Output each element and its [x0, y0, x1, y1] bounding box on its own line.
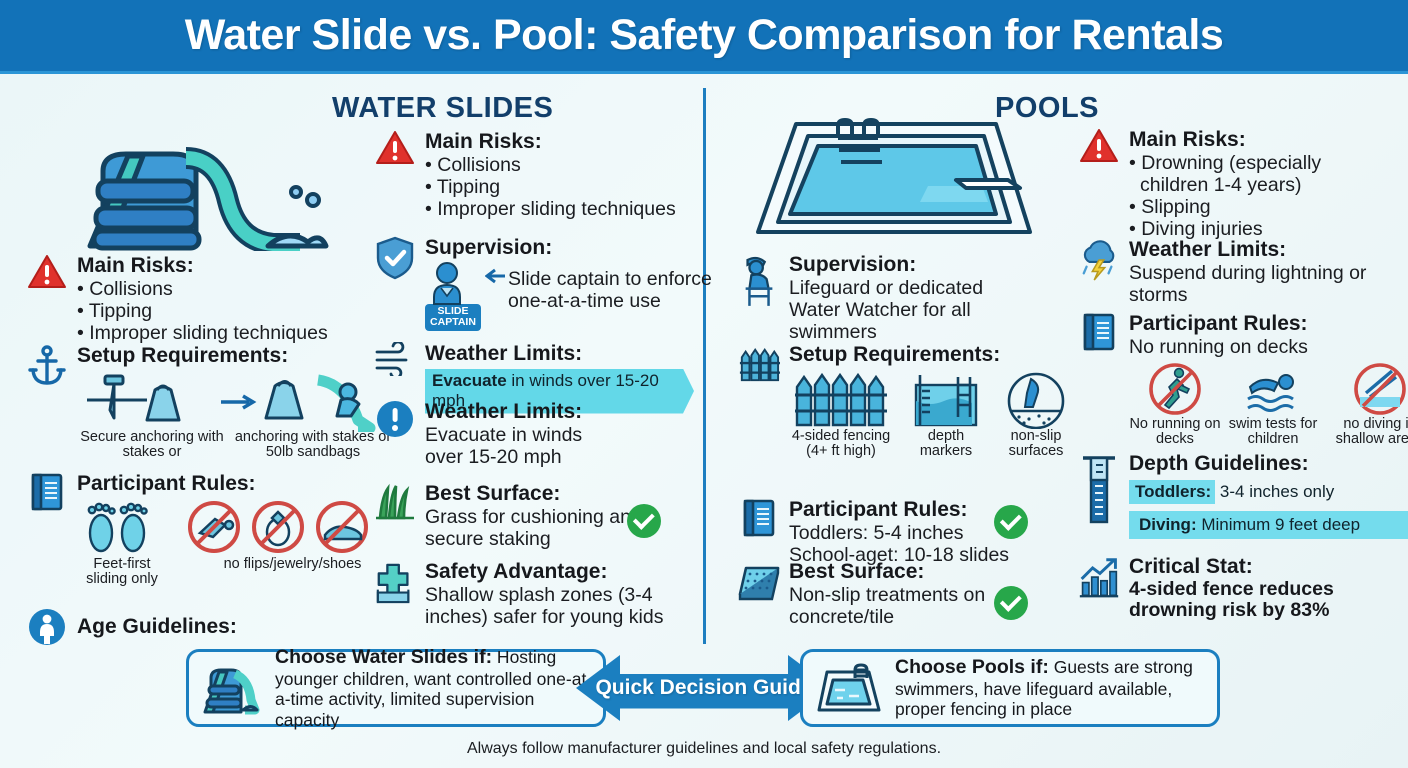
no-shoes-icon: [313, 499, 371, 555]
heading: Participant Rules:: [77, 472, 400, 496]
footer-note: Always follow manufacturer guidelines an…: [0, 740, 1408, 758]
shield-check-icon: [374, 236, 416, 331]
no-diving-icon: [1352, 363, 1408, 417]
water-slide-illustration: [68, 96, 338, 251]
heading: Main Risks:: [425, 130, 684, 154]
heading: Best Surface:: [425, 482, 674, 506]
supervision-body: Slide captain to enforce one-at-a-time u…: [508, 268, 733, 312]
page-title: Water Slide vs. Pool: Safety Comparison …: [185, 11, 1224, 60]
mini-pool-icon: [813, 660, 885, 716]
heading: Setup Requirements:: [77, 344, 393, 368]
pools-mid-setup: Setup Requirements: 4-sided fencing (4+ …: [738, 343, 1038, 460]
toddlers-rest: 3-4 inches only: [1215, 482, 1334, 501]
surface-body: Grass for cushioning and secure staking: [425, 506, 645, 550]
heading: Weather Limits:: [425, 342, 694, 366]
pools-mid-supervision: Supervision: Lifeguard or dedicated Wate…: [738, 253, 1038, 343]
book-icon: [26, 472, 68, 588]
heading: Depth Guidelines:: [1129, 452, 1408, 476]
quick-decision-guide-arrow: Quick Decision Guide: [576, 655, 832, 721]
toddlers-bold: Toddlers:: [1135, 482, 1211, 501]
cap-no-running: No running on decks: [1129, 417, 1221, 449]
pools-right-main-risks: Main Risks: Drowning (especially childre…: [1078, 128, 1398, 240]
badge-line-2: CAPTAIN: [428, 317, 478, 329]
growth-chart-icon: [1078, 555, 1120, 622]
decision-left-bold: Choose Water Slides if:: [275, 646, 492, 668]
slides-left-age-guidelines: Age Guidelines:: [26, 608, 356, 646]
decision-right-text: Choose Pools if: Guests are strong swimm…: [895, 656, 1207, 720]
left-arrow-icon: [485, 268, 505, 284]
fence-icon: [738, 343, 780, 460]
pools-mid-best-surface: Best Surface: Non-slip treatments on con…: [738, 560, 1038, 628]
anchor-icon: [26, 344, 68, 461]
decision-left-text: Choose Water Slides if: Hosting younger …: [275, 646, 593, 730]
surface-body: Non-slip treatments on concrete/tile: [789, 584, 1004, 628]
stat-body: 4-sided fence reduces drowning risk by 8…: [1129, 579, 1379, 623]
page-header: Water Slide vs. Pool: Safety Comparison …: [0, 0, 1408, 74]
slides-mid-main-risks: Main Risks: Collisions Tipping Improper …: [374, 130, 684, 220]
feet-first-caption: Feet-first sliding only: [77, 557, 167, 589]
fence-large-icon: [793, 371, 889, 429]
list-item: Collisions: [425, 154, 684, 176]
pools-right-critical-stat: Critical Stat: 4-sided fence reduces dro…: [1078, 555, 1403, 622]
setup-caption-left: Secure anchoring with stakes or: [77, 430, 227, 462]
depth-toddlers-highlight: Toddlers:: [1129, 480, 1215, 504]
slide-captain-figure: SLIDE CAPTAIN: [425, 262, 481, 332]
lifeguard-chair-icon: [738, 253, 780, 343]
diving-rest: Minimum 9 feet deep: [1197, 515, 1360, 534]
heading: Supervision:: [789, 253, 1038, 277]
depth-markers-icon: [910, 371, 982, 429]
risk-list: Collisions Tipping Improper sliding tech…: [77, 278, 356, 345]
slides-left-main-risks: Main Risks: Collisions Tipping Improper …: [26, 254, 356, 344]
heading: Main Risks:: [1129, 128, 1398, 152]
pools-right-weather: Weather Limits: Suspend during lightning…: [1078, 238, 1398, 306]
slides-mid-safety-advantage: Safety Advantage: Shallow splash zones (…: [374, 560, 684, 628]
slides-mid-supervision: Supervision: SLIDE CAPTAIN Slide captain…: [374, 236, 689, 331]
heading: Critical Stat:: [1129, 555, 1403, 579]
depth-diving-highlight: Diving: Minimum 9 feet deep: [1129, 511, 1408, 539]
book-icon: [1078, 312, 1120, 448]
heading: Best Surface:: [789, 560, 1038, 584]
list-item: Collisions: [77, 278, 356, 300]
weather-body: Suspend during lightning or storms: [1129, 262, 1379, 306]
heading: Weather Limits:: [1129, 238, 1398, 262]
heading: Supervision:: [425, 236, 733, 260]
advantage-body: Shallow splash zones (3-4 inches) safer …: [425, 584, 680, 628]
book-icon: [738, 498, 780, 566]
arrow-label: Quick Decision Guide: [595, 676, 812, 700]
ribbon-bold: Evacuate: [432, 371, 507, 390]
pools-right-participant-rules: Participant Rules: No running on decks N…: [1078, 312, 1403, 448]
pools-mid-participant-rules: Participant Rules: Toddlers: 5-4 inches …: [738, 498, 1038, 566]
pool-illustration: [738, 118, 1038, 240]
column-divider: [703, 88, 706, 644]
supervision-body: Lifeguard or dedicated Water Watcher for…: [789, 277, 1034, 343]
slides-mid-weather: Weather Limits: Evacuate in winds over 1…: [374, 400, 674, 468]
no-running-icon: [1147, 363, 1203, 417]
storm-cloud-icon: [1078, 238, 1120, 306]
setup-icon-row: 4-sided fencing (4+ ft high) depth marke…: [789, 371, 1073, 461]
rules-body: No running on decks: [1129, 336, 1408, 358]
warning-triangle-icon: [1078, 128, 1120, 240]
check-badge-surface: [627, 504, 661, 538]
warning-triangle-icon: [26, 254, 68, 344]
mini-slide-icon: [199, 660, 265, 716]
list-item: Tipping: [425, 176, 684, 198]
no-flips-caption: no flips/jewelry/shoes: [185, 557, 400, 573]
list-item: Improper sliding techniques: [77, 322, 356, 344]
textured-tile-icon: [738, 560, 780, 628]
pools-right-depth-guidelines: Depth Guidelines: Toddlers: 3-4 inches o…: [1078, 452, 1403, 539]
setup-caption-right: anchoring with stakes or 50lb sandbags: [233, 430, 393, 462]
risk-list: Collisions Tipping Improper sliding tech…: [425, 154, 684, 221]
slides-left-participant-rules: Participant Rules: Feet-first sliding on…: [26, 472, 356, 588]
no-flips-icon: [185, 499, 243, 555]
person-icon: [26, 608, 68, 646]
heading: Age Guidelines:: [77, 615, 356, 639]
slides-left-setup: Setup Requirements:: [26, 344, 356, 461]
cap-swim-tests: swim tests for children: [1227, 417, 1319, 449]
risk-list: Drowning (especially children 1-4 years)…: [1129, 152, 1398, 241]
infographic-page: Water Slide vs. Pool: Safety Comparison …: [0, 0, 1408, 768]
grass-icon: [374, 482, 416, 550]
cap-no-diving: no diving in shallow areas: [1325, 417, 1408, 449]
pool-rules-icon-row: No running on decks swim tests for child…: [1129, 363, 1408, 449]
heading: Participant Rules:: [1129, 312, 1408, 336]
list-item: Tipping: [77, 300, 356, 322]
shallow-water-plus-icon: [374, 560, 416, 628]
heading: Main Risks:: [77, 254, 356, 278]
warning-triangle-icon: [374, 130, 416, 220]
cap-nonslip: non-slip surfaces: [999, 429, 1073, 461]
check-badge-pool-rules: [994, 505, 1028, 539]
decision-box-pools[interactable]: Choose Pools if: Guests are strong swimm…: [800, 649, 1220, 727]
non-slip-surface-icon: [1005, 371, 1067, 429]
check-badge-pool-surface: [994, 586, 1028, 620]
exclamation-circle-icon: [374, 400, 416, 468]
cap-fence: 4-sided fencing (4+ ft high): [789, 429, 893, 461]
column-title-water-slides: WATER SLIDES: [332, 92, 553, 125]
no-jewelry-icon: [249, 499, 307, 555]
weather-body: Evacuate in winds over 15-20 mph: [425, 424, 605, 468]
heading: Setup Requirements:: [789, 343, 1073, 367]
swim-test-icon: [1242, 363, 1304, 417]
list-item: Drowning (especially children 1-4 years): [1129, 152, 1364, 196]
cap-depth: depth markers: [907, 429, 985, 461]
heading: Weather Limits:: [425, 400, 674, 424]
list-item: Slipping: [1129, 196, 1398, 218]
heading: Safety Advantage:: [425, 560, 684, 584]
depth-gauge-icon: [1078, 452, 1120, 539]
decision-right-bold: Choose Pools if:: [895, 656, 1049, 678]
diving-bold: Diving:: [1139, 515, 1197, 534]
decision-box-water-slides[interactable]: Choose Water Slides if: Hosting younger …: [186, 649, 606, 727]
list-item: Improper sliding techniques: [425, 198, 684, 220]
